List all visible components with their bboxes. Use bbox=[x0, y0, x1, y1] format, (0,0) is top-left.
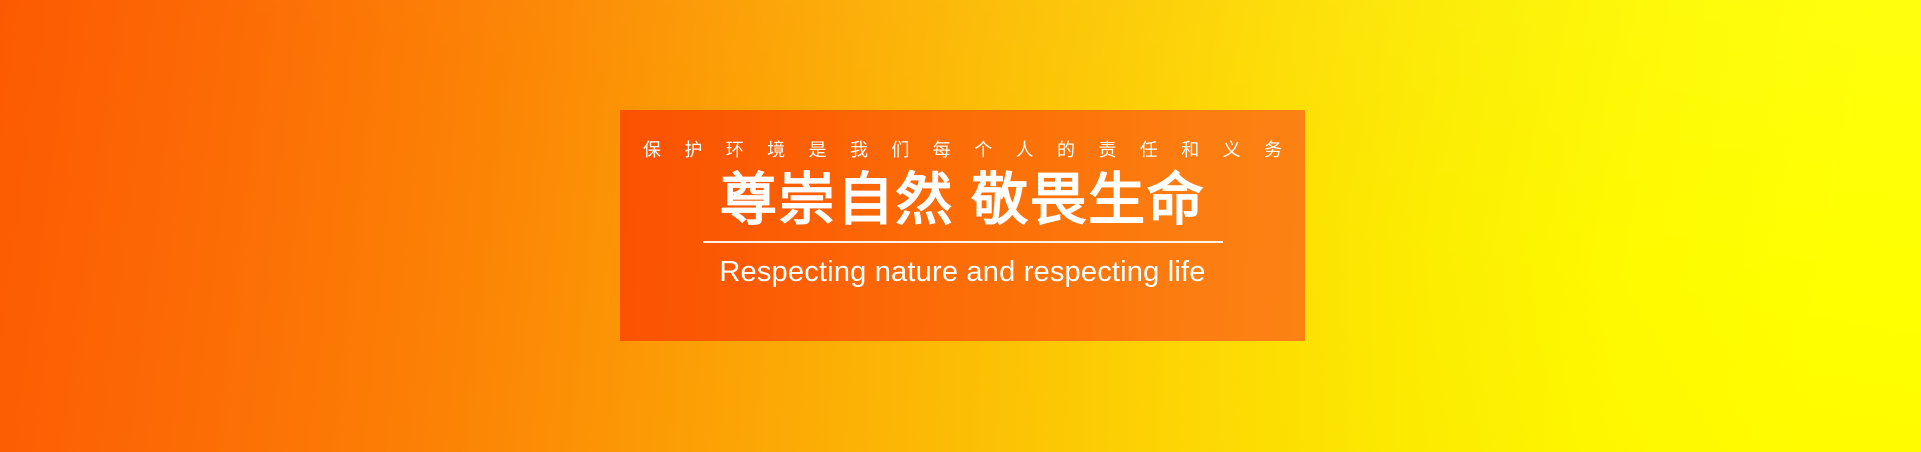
slogan-subline-text: Respecting nature and respecting life bbox=[719, 255, 1205, 289]
slogan-headline-text: 尊崇自然 敬畏生命 bbox=[720, 169, 1205, 231]
slogan-panel-content: 保 护 环 境 是 我 们 每 个 人 的 责 任 和 义 务 尊崇自然 敬畏生… bbox=[620, 110, 1305, 341]
environment-slogan-banner: 保 护 环 境 是 我 们 每 个 人 的 责 任 和 义 务 尊崇自然 敬畏生… bbox=[0, 0, 1921, 452]
slogan-panel: 保 护 环 境 是 我 们 每 个 人 的 责 任 和 义 务 尊崇自然 敬畏生… bbox=[620, 110, 1305, 341]
slogan-kicker-text: 保 护 环 境 是 我 们 每 个 人 的 责 任 和 义 务 bbox=[634, 138, 1291, 162]
slogan-divider bbox=[703, 241, 1223, 243]
